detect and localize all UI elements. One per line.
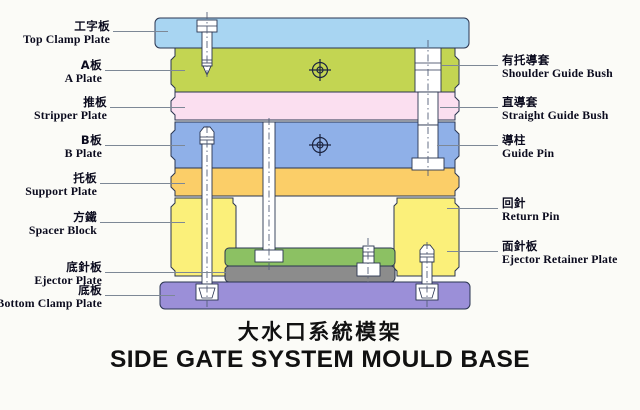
label-b-plate: B板 B Plate bbox=[65, 134, 102, 160]
label-cn: 底板 bbox=[0, 284, 102, 297]
label-cn: 方鐵 bbox=[29, 211, 97, 224]
label-cn: 回針 bbox=[502, 197, 560, 210]
label-a-plate: A板 A Plate bbox=[65, 59, 102, 85]
label-en: Straight Guide Bush bbox=[502, 109, 608, 122]
leader-stripper-plate bbox=[110, 107, 185, 108]
label-return-pin: 回針 Return Pin bbox=[502, 197, 560, 223]
label-en: Ejector Retainer Plate bbox=[502, 253, 618, 266]
label-cn: 托板 bbox=[25, 172, 97, 185]
leader-bottom-clamp-plate bbox=[105, 295, 175, 296]
leader-b-plate bbox=[105, 145, 185, 146]
leader-guide-pin bbox=[437, 145, 498, 146]
label-en: Spacer Block bbox=[29, 224, 97, 237]
label-cn: B板 bbox=[65, 134, 102, 147]
label-en: B Plate bbox=[65, 147, 102, 160]
label-ejector-retainer-plate: 面針板 Ejector Retainer Plate bbox=[502, 240, 618, 266]
label-spacer-block: 方鐵 Spacer Block bbox=[29, 211, 97, 237]
label-bottom-clamp-plate: 底板 Bottom Clamp Plate bbox=[0, 284, 102, 310]
label-cn: 導柱 bbox=[502, 134, 554, 147]
label-cn: 面針板 bbox=[502, 240, 618, 253]
leader-ejector-plate bbox=[105, 272, 227, 273]
leader-spacer-block bbox=[100, 222, 185, 223]
leader-support-plate bbox=[100, 183, 185, 184]
label-guide-pin: 導柱 Guide Pin bbox=[502, 134, 554, 160]
label-stripper-plate: 推板 Stripper Plate bbox=[34, 96, 107, 122]
title-english: SIDE GATE SYSTEM MOULD BASE bbox=[0, 346, 640, 374]
label-support-plate: 托板 Support Plate bbox=[25, 172, 97, 198]
plate-stripper bbox=[171, 92, 459, 120]
label-top-clamp-plate: 工字板 Top Clamp Plate bbox=[23, 20, 110, 46]
label-cn: 工字板 bbox=[23, 20, 110, 33]
leader-ejector-retainer-plate bbox=[447, 251, 498, 252]
label-en: Shoulder Guide Bush bbox=[502, 67, 613, 80]
leader-return-pin bbox=[447, 208, 498, 209]
label-en: Guide Pin bbox=[502, 147, 554, 160]
leader-straight-guide-bush bbox=[440, 107, 498, 108]
leader-shoulder-guide-bush bbox=[442, 65, 498, 66]
label-cn: 底針板 bbox=[34, 261, 102, 274]
label-cn: 有托導套 bbox=[502, 54, 613, 67]
label-en: Top Clamp Plate bbox=[23, 33, 110, 46]
leader-top-clamp-plate bbox=[113, 31, 168, 32]
title-chinese: 大水口系統模架 bbox=[0, 316, 640, 346]
label-en: A Plate bbox=[65, 72, 102, 85]
leader-a-plate bbox=[105, 70, 185, 71]
plate-support bbox=[171, 168, 459, 196]
label-en: Stripper Plate bbox=[34, 109, 107, 122]
label-en: Bottom Clamp Plate bbox=[0, 297, 102, 310]
label-cn: 推板 bbox=[34, 96, 107, 109]
label-straight-guide-bush: 直導套 Straight Guide Bush bbox=[502, 96, 608, 122]
label-en: Return Pin bbox=[502, 210, 560, 223]
label-cn: A板 bbox=[65, 59, 102, 72]
label-en: Support Plate bbox=[25, 185, 97, 198]
diagram-canvas: .ol { stroke:#2a3550; stroke-width:1; } … bbox=[0, 0, 640, 410]
label-cn: 直導套 bbox=[502, 96, 608, 109]
label-shoulder-guide-bush: 有托導套 Shoulder Guide Bush bbox=[502, 54, 613, 80]
